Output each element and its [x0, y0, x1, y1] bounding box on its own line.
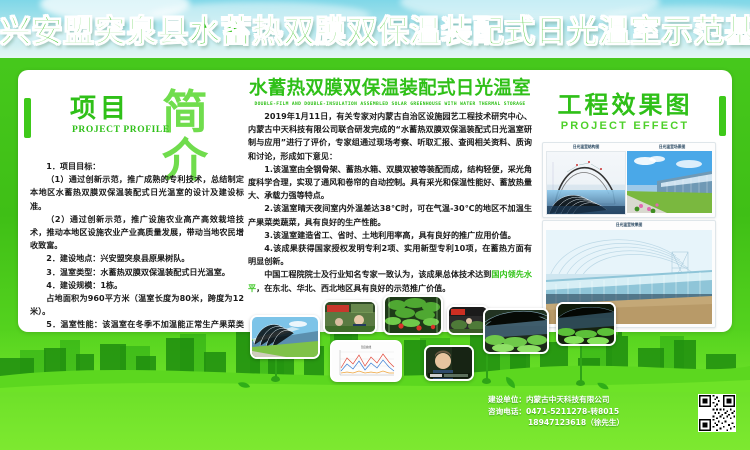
section-project-profile: 项目 简介 PROJECT PROFILE 1．项目目标： （1）通过创新示范，… — [18, 70, 250, 332]
footer-phone-line: 咨询电话：0471-5211278-转8015 — [488, 406, 688, 417]
footer-phone-value: 0471-5211278-转8015 — [526, 407, 619, 416]
bubble-stem — [580, 340, 582, 382]
profile-body: 1．项目目标： （1）通过创新示范，推广成熟的专利技术，总结制定本地区水蓄热双膜… — [30, 160, 244, 332]
collage-photo-greenhouse-rows — [556, 302, 616, 346]
profile-paragraph: 2．建设地点：兴安盟突泉县原果树队。 — [30, 252, 244, 265]
collage-photo-interview — [424, 345, 474, 381]
poster-root: 兴安盟突泉县水蓄热双膜双保温装配式日光温室示范基地 — [0, 0, 750, 450]
conclusion-post: ，在东北、华北、西北地区具有良好的示范推广价值。 — [256, 283, 450, 293]
accent-bar-right — [719, 96, 726, 136]
evaluation-body: 2019年1月11日，有关专家对内蒙古自治区设施园艺工程技术研究中心、内蒙古中天… — [248, 110, 532, 295]
svg-text:温度曲线: 温度曲线 — [361, 345, 372, 349]
qr-code[interactable] — [698, 394, 736, 432]
greenhouse-structure-diagram — [546, 151, 626, 215]
evaluation-heading-en: DOUBLE-FILM AND DOUBLE-INSULATION ASSEMB… — [246, 101, 534, 108]
effect-heading: 工程效果图 PROJECT EFFECT — [536, 92, 714, 133]
collage-photo-exhibition — [323, 300, 377, 334]
bubble-stem-dot — [482, 378, 491, 384]
bubble-stem-dot — [576, 380, 585, 386]
caption-large: 日光温室效果图 — [543, 222, 715, 228]
profile-paragraph: 1．项目目标： — [30, 160, 244, 173]
evaluation-conclusion: 中国工程院院士及行业知名专家一致认为，该成果总体技术达到国内领先水平，在东北、华… — [248, 268, 532, 294]
evaluation-heading-cn: 水蓄热双膜双保温装配式日光温室 — [246, 78, 534, 100]
profile-paragraph: 5．温室性能：该温室在冬季不加温能正常生产果菜类蔬菜，节省人工的同时提早上市时间… — [30, 318, 244, 332]
page-title: 兴安盟突泉县水蓄热双膜双保温装配式日光温室示范基地 — [0, 13, 750, 51]
footer-unit-value: 内蒙古中天科技有限公司 — [526, 395, 610, 404]
profile-paragraph: 3．温室类型：水蓄热双膜双保温装配式日光温室。 — [30, 266, 244, 279]
evaluation-heading: 水蓄热双膜双保温装配式日光温室 DOUBLE-FILM AND DOUBLE-I… — [246, 78, 534, 108]
bubble-stem-dot — [271, 376, 280, 382]
collage-photo-greenhouse-interior — [483, 308, 549, 354]
footer-mobile-line: 18947123618（徐先生） — [488, 417, 688, 428]
greenhouse-scene-photo — [627, 151, 712, 213]
section-evaluation: 水蓄热双膜双保温装配式日光温室 DOUBLE-FILM AND DOUBLE-I… — [244, 70, 534, 332]
profile-paragraph: （2）通过创新示范，推广设施农业高产高效栽培技术，推动本地区设施农业产业高质量发… — [30, 213, 244, 253]
accent-bar-left — [24, 98, 31, 138]
evaluation-item: 4.该成果获得国家授权发明专利2项、实用新型专利10项，在蓄热方面有明显创新。 — [248, 242, 532, 268]
collage-photo-greenhouse-exterior — [250, 315, 320, 359]
collage-photo-chart: 温度曲线 — [330, 340, 402, 382]
content-card: 项目 简介 PROJECT PROFILE 1．项目目标： （1）通过创新示范，… — [18, 70, 732, 332]
collage-photo-crops — [383, 295, 443, 335]
effect-heading-en: PROJECT EFFECT — [536, 120, 714, 133]
profile-paragraph: 4．建设规模：1栋。 — [30, 279, 244, 292]
footer-unit-label: 建设单位： — [488, 395, 526, 404]
footer-contact: 建设单位：内蒙古中天科技有限公司 咨询电话：0471-5211278-转8015… — [488, 394, 688, 428]
profile-heading: 项目 简介 PROJECT PROFILE — [70, 94, 250, 150]
effect-panel-top: 日光温室结构图 日光温室场景图 — [542, 142, 716, 218]
profile-heading-cn: 项目 — [70, 94, 130, 124]
caption-effect: 日光温室场景图 — [629, 144, 715, 150]
evaluation-item: 3.该温室建造省工、省时、土地利用率高，具有良好的推广应用价值。 — [248, 229, 532, 242]
section-project-effect: 工程效果图 PROJECT EFFECT 日光温室结构图 日光温室场景图 — [536, 70, 732, 332]
effect-heading-cn: 工程效果图 — [536, 92, 714, 119]
conclusion-pre: 中国工程院院士及行业知名专家一致认为，该成果总体技术达到 — [264, 269, 491, 279]
profile-paragraph: （1）通过创新示范，推广成熟的专利技术，总结制定本地区水蓄热双膜双保温装配式日光… — [30, 173, 244, 213]
evaluation-intro: 2019年1月11日，有关专家对内蒙古自治区设施园艺工程技术研究中心、内蒙古中天… — [248, 110, 532, 163]
evaluation-item: 1.该温室由全钢骨架、蓄热水箱、双膜双被等装配而成，结构轻便，采光角度科学合理，… — [248, 163, 532, 203]
caption-structure: 日光温室结构图 — [543, 144, 629, 150]
footer-unit-line: 建设单位：内蒙古中天科技有限公司 — [488, 394, 688, 405]
profile-heading-en: PROJECT PROFILE — [72, 125, 170, 135]
footer-phone-label: 咨询电话： — [488, 407, 526, 416]
evaluation-item: 2.该温室晴天夜间室内外温差达38℃时，可在气温-30℃的地区不加温生产果菜类蔬… — [248, 202, 532, 228]
profile-paragraph: 占地面积为960平方米（温室长度为80米，跨度为12米）。 — [30, 292, 244, 318]
